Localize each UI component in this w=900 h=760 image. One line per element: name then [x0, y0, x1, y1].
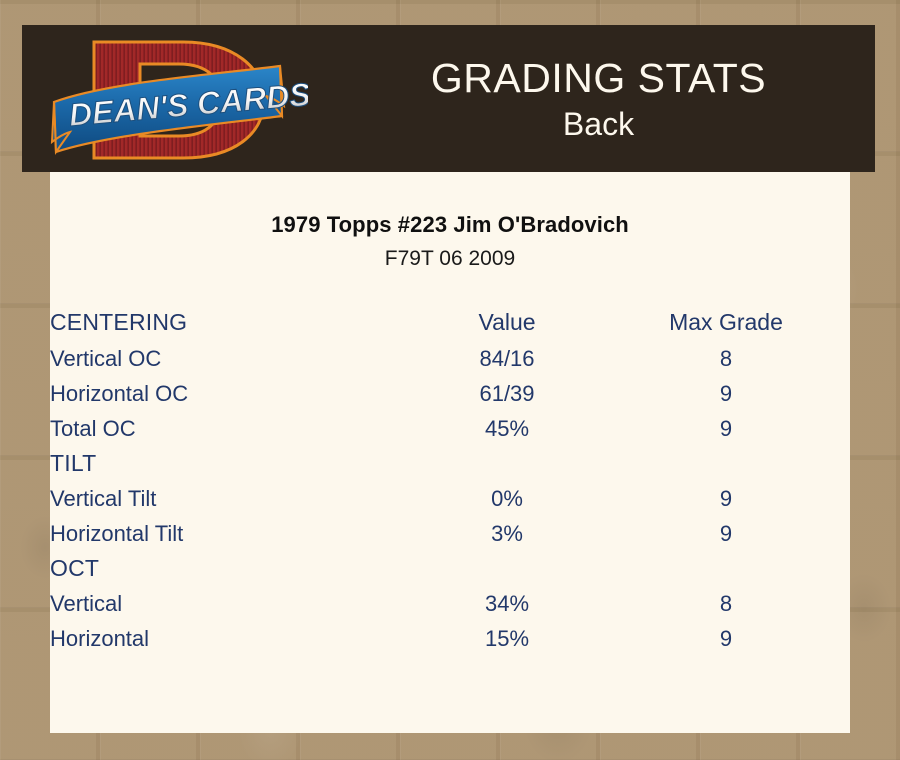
card-subtitle: F79T 06 2009 [50, 247, 850, 271]
header-title-group: GRADING STATS Back [322, 25, 875, 172]
table-row: Vertical34%8 [50, 586, 850, 621]
row-label: Total OC [50, 411, 412, 446]
row-label: Vertical [50, 586, 412, 621]
content-panel: 1979 Topps #223 Jim O'Bradovich F79T 06 … [50, 172, 850, 733]
page-subtitle: Back [563, 104, 634, 144]
card-title: 1979 Topps #223 Jim O'Bradovich [50, 212, 850, 238]
section-spacer-value [412, 446, 602, 481]
row-label: Vertical OC [50, 341, 412, 376]
section-spacer-grade [602, 446, 850, 481]
section-heading-oct: OCT [50, 551, 412, 586]
row-value: 34% [412, 586, 602, 621]
grading-stats-table: CENTERINGValueMax GradeVertical OC84/168… [50, 303, 850, 656]
table-row: Vertical Tilt0%9 [50, 481, 850, 516]
table-row: Vertical OC84/168 [50, 341, 850, 376]
row-max-grade: 8 [602, 341, 850, 376]
row-max-grade: 9 [602, 516, 850, 551]
row-value: 0% [412, 481, 602, 516]
section-spacer-value [412, 551, 602, 586]
row-label: Horizontal Tilt [50, 516, 412, 551]
section-row: OCT [50, 551, 850, 586]
row-value: 15% [412, 621, 602, 656]
deans-cards-logo[interactable]: DEAN'S CARDS [48, 30, 308, 170]
table-row: Horizontal OC61/399 [50, 376, 850, 411]
row-value: 84/16 [412, 341, 602, 376]
table-header-row: CENTERINGValueMax Grade [50, 303, 850, 341]
row-max-grade: 9 [602, 481, 850, 516]
header-bar: DEAN'S CARDS GRADING STATS Back [22, 25, 875, 172]
row-label: Horizontal OC [50, 376, 412, 411]
section-heading-centering: CENTERING [50, 303, 412, 341]
table-row: Horizontal15%9 [50, 621, 850, 656]
row-label: Horizontal [50, 621, 412, 656]
row-label: Vertical Tilt [50, 481, 412, 516]
column-header-max-grade: Max Grade [602, 303, 850, 341]
section-spacer-grade [602, 551, 850, 586]
row-max-grade: 9 [602, 376, 850, 411]
row-value: 45% [412, 411, 602, 446]
row-value: 61/39 [412, 376, 602, 411]
table-row: Total OC45%9 [50, 411, 850, 446]
row-value: 3% [412, 516, 602, 551]
row-max-grade: 8 [602, 586, 850, 621]
section-row: TILT [50, 446, 850, 481]
row-max-grade: 9 [602, 411, 850, 446]
page-title: GRADING STATS [431, 54, 766, 102]
table-row: Horizontal Tilt3%9 [50, 516, 850, 551]
row-max-grade: 9 [602, 621, 850, 656]
column-header-value: Value [412, 303, 602, 341]
section-heading-tilt: TILT [50, 446, 412, 481]
